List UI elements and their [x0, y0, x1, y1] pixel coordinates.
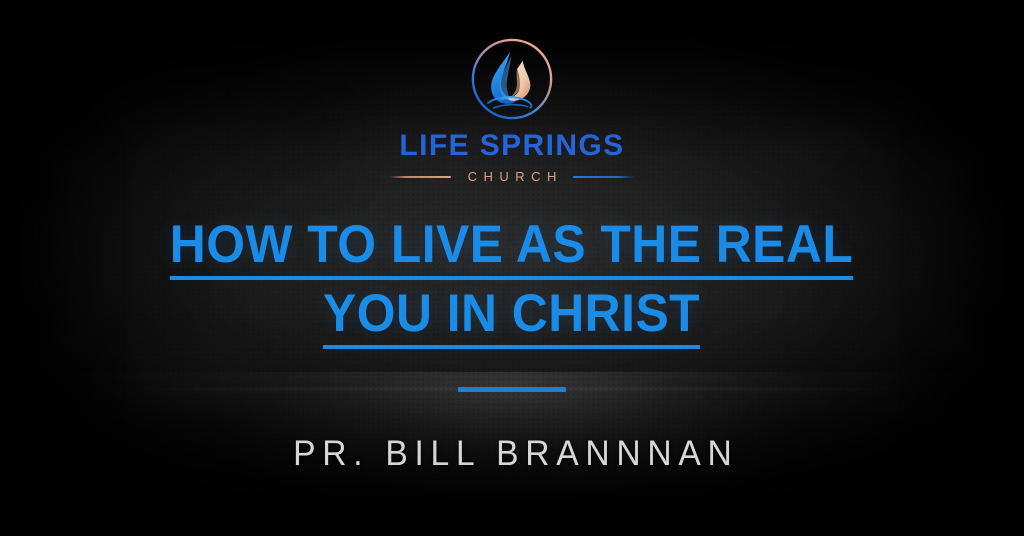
logo-subtitle: CHURCH — [461, 170, 563, 183]
logo-rule-right — [573, 176, 635, 178]
water-drop-dove-icon — [466, 33, 558, 125]
sermon-title-line-2: YOU IN CHRIST — [323, 286, 700, 351]
speaker-name: PR. BILL BRANNNAN — [286, 434, 738, 474]
accent-divider — [458, 387, 566, 392]
logo-subtitle-row: CHURCH — [389, 170, 635, 183]
church-logo: LIFE SPRINGS CHURCH — [389, 33, 635, 183]
sermon-title-line-1: HOW TO LIVE AS THE REAL — [170, 217, 853, 282]
logo-rule-left — [389, 176, 451, 178]
sermon-title: HOW TO LIVE AS THE REAL YOU IN CHRIST — [0, 217, 1024, 355]
sermon-title-slide: LIFE SPRINGS CHURCH HOW TO LIVE AS THE R… — [0, 0, 1024, 536]
slide-content: LIFE SPRINGS CHURCH HOW TO LIVE AS THE R… — [0, 0, 1024, 536]
logo-wordmark: LIFE SPRINGS — [399, 131, 624, 161]
